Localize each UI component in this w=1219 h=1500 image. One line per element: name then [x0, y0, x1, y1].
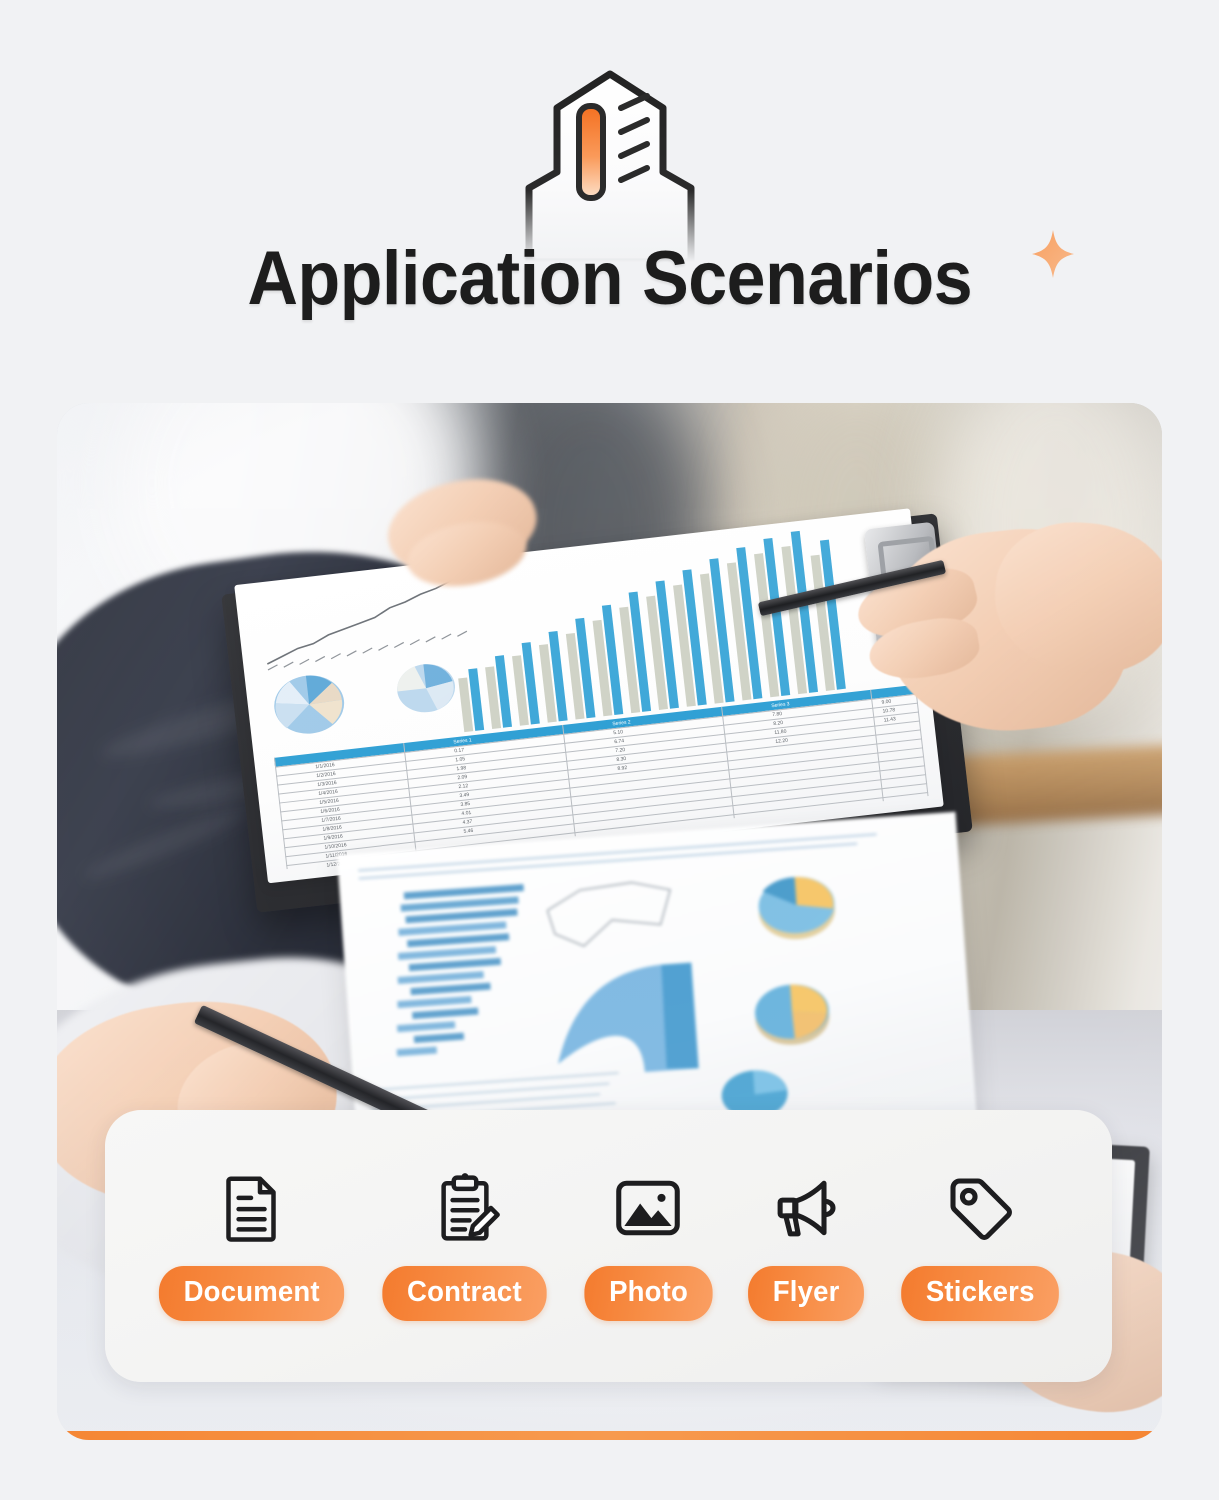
scenario-label-document[interactable]: Document — [159, 1266, 345, 1321]
report-bar-chart — [370, 882, 543, 1083]
report-pie-chart-1 — [749, 864, 844, 946]
table-cell-value: 4.37 — [462, 819, 472, 826]
scenario-label-photo[interactable]: Photo — [584, 1266, 712, 1321]
building-icon — [495, 62, 725, 262]
table-cell-value: 5.10 — [613, 729, 623, 736]
document-icon — [215, 1172, 287, 1244]
mini-pie-chart-right — [392, 659, 459, 718]
scenarios-list: Document — [105, 1110, 1112, 1382]
report-line-chart — [540, 874, 695, 964]
report-pie-chart-2 — [744, 971, 839, 1053]
scenario-photo: 1/1/2016 1/2/2016 1/3/2016 1/4/2016 1/5/… — [57, 403, 1162, 1440]
table-cell-value: 7.20 — [615, 747, 625, 754]
table-cell-value: 8.30 — [616, 756, 626, 763]
table-cell-value: 9.00 — [881, 699, 891, 706]
scenario-label-flyer[interactable]: Flyer — [748, 1266, 864, 1321]
scenario-item-flyer[interactable]: Flyer — [745, 1172, 867, 1321]
megaphone-icon — [770, 1172, 842, 1244]
table-cell-value: 8.20 — [773, 720, 783, 727]
image-icon — [612, 1172, 684, 1244]
scenario-label-contract[interactable]: Contract — [383, 1266, 547, 1321]
clipboard-pen-icon — [429, 1172, 501, 1244]
mini-pie-chart-left — [269, 670, 350, 740]
price-tag-icon — [944, 1172, 1016, 1244]
scenarios-panel: Document — [105, 1110, 1112, 1382]
page-title: Application Scenarios — [247, 236, 972, 322]
scenario-label-stickers[interactable]: Stickers — [901, 1266, 1059, 1321]
table-cell-value: 6.74 — [614, 738, 624, 745]
table-cell-value: 4.01 — [461, 810, 471, 817]
table-cell-value: 5.46 — [463, 828, 473, 835]
scenario-item-document[interactable]: Document — [154, 1172, 349, 1321]
table-cell-value: 3.85 — [460, 801, 470, 808]
sparkle-icon — [1030, 228, 1076, 280]
scenario-item-stickers[interactable]: Stickers — [897, 1172, 1063, 1321]
table-cell-value: 7.80 — [772, 711, 782, 718]
table-cell-value: 8.92 — [617, 765, 627, 772]
table-cell-value: 1.98 — [456, 765, 466, 772]
table-cell-value: 0.17 — [454, 747, 464, 754]
table-cell-value: 2.09 — [457, 774, 467, 781]
table-cell-value: 2.12 — [458, 783, 468, 790]
scenario-item-photo[interactable]: Photo — [581, 1172, 716, 1321]
page-header: Application Scenarios — [0, 0, 1219, 400]
table-cell-value: 1.05 — [455, 756, 465, 763]
scenario-item-contract[interactable]: Contract — [378, 1172, 551, 1321]
table-cell-value: 3.49 — [459, 792, 469, 799]
report-area-chart — [541, 956, 739, 1089]
